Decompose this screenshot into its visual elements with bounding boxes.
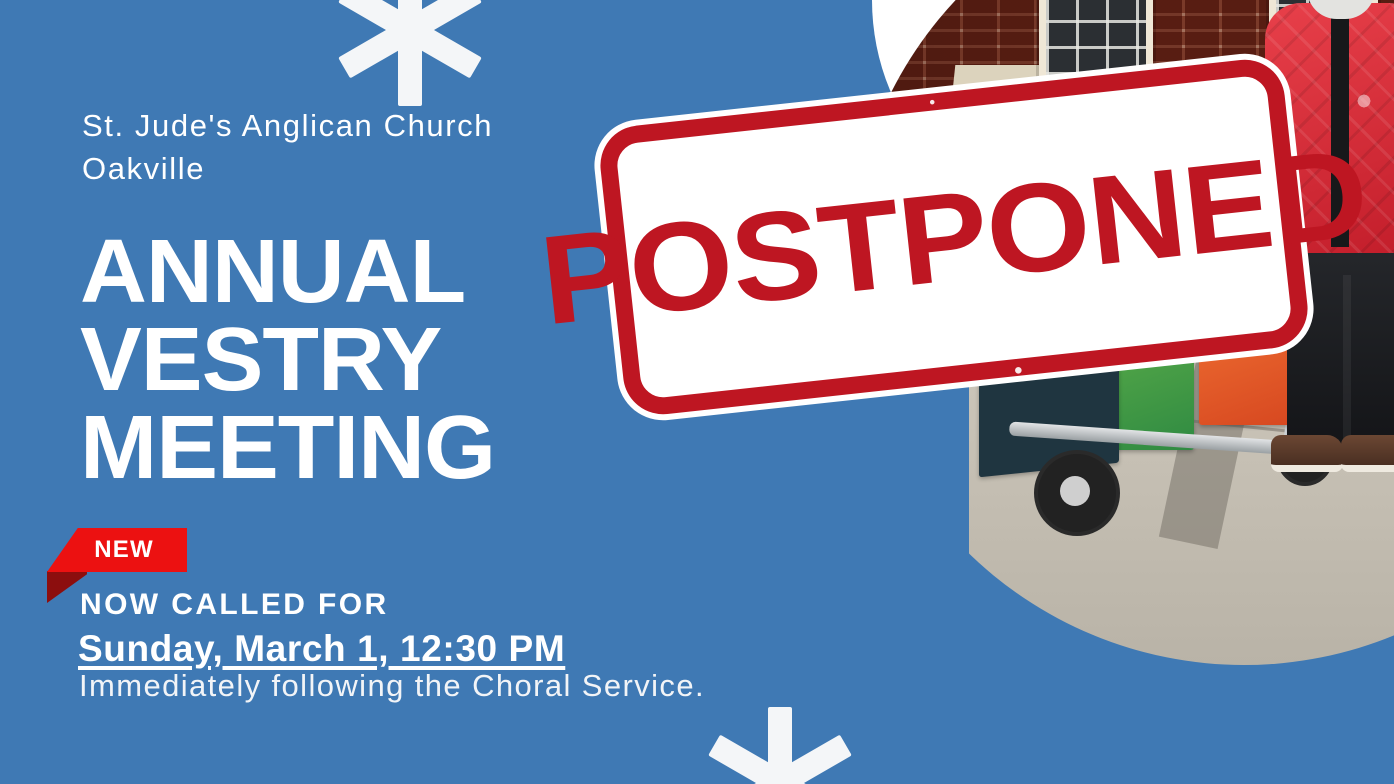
meeting-note: Immediately following the Choral Service… [79, 668, 705, 704]
new-badge: NEW [47, 528, 187, 572]
photo-man-shoe [1271, 435, 1343, 472]
organization-name-line-1: St. Jude's Anglican Church [82, 105, 642, 148]
page-title-line-3: MEETING [80, 404, 495, 492]
page-title: ANNUAL VESTRY MEETING [80, 228, 483, 493]
photo-man-shoe [1341, 435, 1394, 472]
organization-name: St. Jude's Anglican Church Oakville [82, 105, 642, 191]
page-title-line-1: ANNUAL [80, 228, 495, 316]
photo-cart-wheel [1034, 450, 1120, 536]
organization-name-line-2: Oakville [82, 148, 642, 191]
now-called-for-label: NOW CALLED FOR [80, 588, 389, 622]
poster-canvas: POSTPONED St. Jude's Anglican Church Oak… [0, 0, 1394, 784]
meeting-date-time: Sunday, March 1, 12:30 PM [78, 628, 565, 670]
postponed-stamp-label: POSTPONED [535, 130, 1373, 345]
new-badge-label: NEW [47, 528, 187, 572]
page-title-line-2: VESTRY [80, 316, 495, 404]
